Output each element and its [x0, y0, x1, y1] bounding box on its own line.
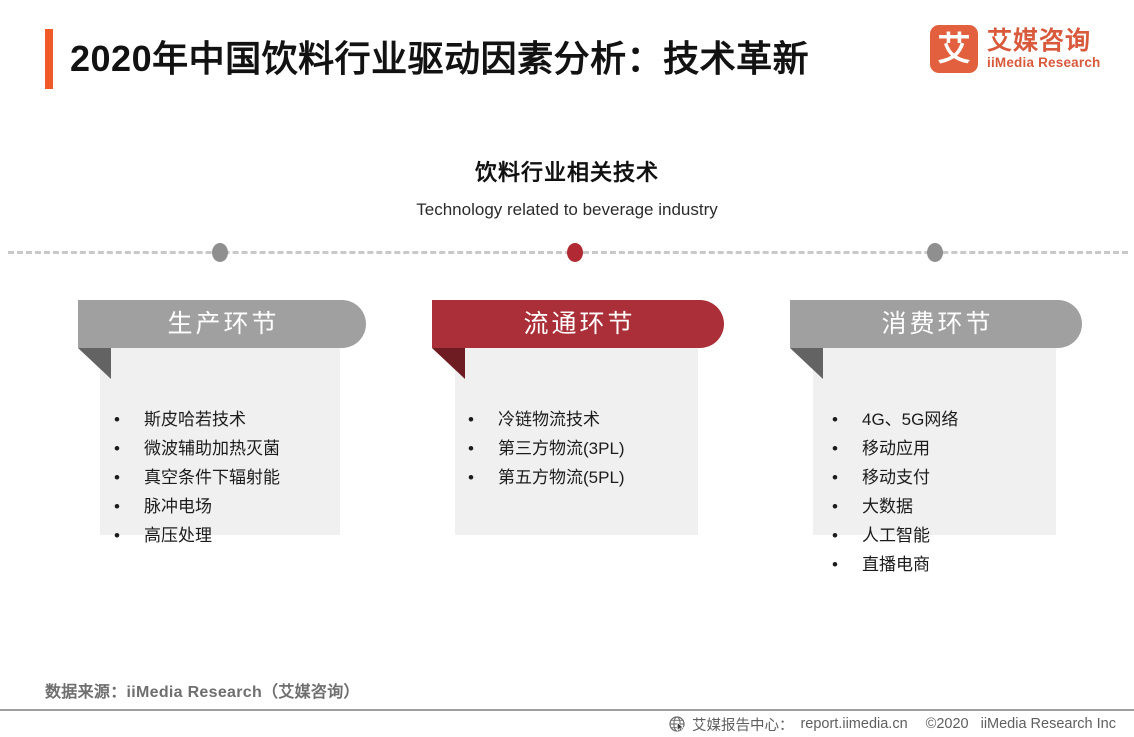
- column-consumption: 消费环节 • 4G、5G网络 • 移动应用 • 移动支付 • 大数据 • 人工智…: [790, 300, 1082, 348]
- list-item: • 第三方物流(3PL): [462, 434, 625, 463]
- tech-list-consumption: • 4G、5G网络 • 移动应用 • 移动支付 • 大数据 • 人工智能 • 直…: [826, 405, 958, 579]
- timeline-dot-distribution: [567, 243, 583, 262]
- page-title: 2020年中国饮料行业驱动因素分析：技术革新: [70, 30, 809, 88]
- bullet-icon: •: [832, 521, 838, 550]
- list-item: • 人工智能: [826, 521, 958, 550]
- tech-list-production: • 斯皮哈若技术 • 微波辅助加热灭菌 • 真空条件下辐射能 • 脉冲电场 • …: [108, 405, 280, 550]
- column-banner-production: 生产环节: [78, 300, 366, 348]
- list-item: • 真空条件下辐射能: [108, 463, 280, 492]
- bullet-icon: •: [832, 492, 838, 521]
- list-item: • 冷链物流技术: [462, 405, 625, 434]
- list-item-label: 直播电商: [862, 555, 930, 574]
- report-center-label: 艾媒报告中心：: [692, 714, 794, 735]
- iimedia-logo: 艾 艾媒咨询 iiMedia Research: [930, 25, 1101, 73]
- list-item-label: 第五方物流(5PL): [498, 468, 625, 487]
- column-banner-label: 消费环节: [790, 300, 1082, 348]
- timeline: [0, 238, 1134, 268]
- list-item: • 移动支付: [826, 463, 958, 492]
- company-label: iiMedia Research Inc: [981, 716, 1116, 732]
- footer-bar: 艾媒报告中心： report.iimedia.cn ©2020 iiMedia …: [0, 711, 1134, 737]
- bullet-icon: •: [114, 521, 120, 550]
- column-banner-distribution: 流通环节: [432, 300, 724, 348]
- bullet-icon: •: [114, 463, 120, 492]
- list-item-label: 人工智能: [862, 526, 930, 545]
- section-title: 饮料行业相关技术: [0, 155, 1134, 187]
- list-item-label: 微波辅助加热灭菌: [144, 439, 280, 458]
- list-item-label: 移动应用: [862, 439, 930, 458]
- list-item: • 大数据: [826, 492, 958, 521]
- bullet-icon: •: [832, 405, 838, 434]
- bullet-icon: •: [114, 492, 120, 521]
- column-production: 生产环节 • 斯皮哈若技术 • 微波辅助加热灭菌 • 真空条件下辐射能 • 脉冲…: [78, 300, 366, 348]
- report-url[interactable]: report.iimedia.cn: [800, 716, 907, 732]
- list-item-label: 脉冲电场: [144, 497, 212, 516]
- bullet-icon: •: [832, 550, 838, 579]
- list-item: • 高压处理: [108, 521, 280, 550]
- list-item-label: 大数据: [862, 497, 913, 516]
- bullet-icon: •: [468, 405, 474, 434]
- bullet-icon: •: [468, 463, 474, 492]
- logo-name-en: iiMedia Research: [987, 55, 1101, 71]
- list-item-label: 冷链物流技术: [498, 410, 600, 429]
- logo-text: 艾媒咨询 iiMedia Research: [987, 28, 1101, 71]
- column-banner-label: 流通环节: [432, 300, 724, 348]
- list-item-label: 第三方物流(3PL): [498, 439, 625, 458]
- page-header: 2020年中国饮料行业驱动因素分析：技术革新 艾 艾媒咨询 iiMedia Re…: [0, 0, 1134, 110]
- logo-name-cn: 艾媒咨询: [987, 28, 1101, 55]
- list-item: • 脉冲电场: [108, 492, 280, 521]
- list-item-label: 斯皮哈若技术: [144, 410, 246, 429]
- list-item: • 第五方物流(5PL): [462, 463, 625, 492]
- bullet-icon: •: [114, 434, 120, 463]
- bullet-icon: •: [114, 405, 120, 434]
- list-item: • 移动应用: [826, 434, 958, 463]
- globe-icon: [669, 716, 686, 733]
- timeline-dot-consumption: [927, 243, 943, 262]
- logo-glyph: 艾: [930, 25, 978, 73]
- list-item: • 直播电商: [826, 550, 958, 579]
- bullet-icon: •: [832, 434, 838, 463]
- list-item: • 4G、5G网络: [826, 405, 958, 434]
- column-banner-consumption: 消费环节: [790, 300, 1082, 348]
- column-banner-label: 生产环节: [78, 300, 366, 348]
- bullet-icon: •: [468, 434, 474, 463]
- tech-list-distribution: • 冷链物流技术 • 第三方物流(3PL) • 第五方物流(5PL): [462, 405, 625, 492]
- copyright-label: ©2020: [926, 716, 969, 732]
- timeline-dot-production: [212, 243, 228, 262]
- list-item-label: 真空条件下辐射能: [144, 468, 280, 487]
- title-accent-bar: [45, 29, 53, 89]
- column-distribution: 流通环节 • 冷链物流技术 • 第三方物流(3PL) • 第五方物流(5PL): [432, 300, 724, 348]
- list-item: • 微波辅助加热灭菌: [108, 434, 280, 463]
- logo-mark-icon: 艾: [930, 25, 978, 73]
- data-source-label: 数据来源：iiMedia Research（艾媒咨询）: [45, 678, 360, 702]
- list-item-label: 移动支付: [862, 468, 930, 487]
- list-item: • 斯皮哈若技术: [108, 405, 280, 434]
- section-subtitle: Technology related to beverage industry: [0, 200, 1134, 220]
- bullet-icon: •: [832, 463, 838, 492]
- list-item-label: 高压处理: [144, 526, 212, 545]
- list-item-label: 4G、5G网络: [862, 410, 958, 429]
